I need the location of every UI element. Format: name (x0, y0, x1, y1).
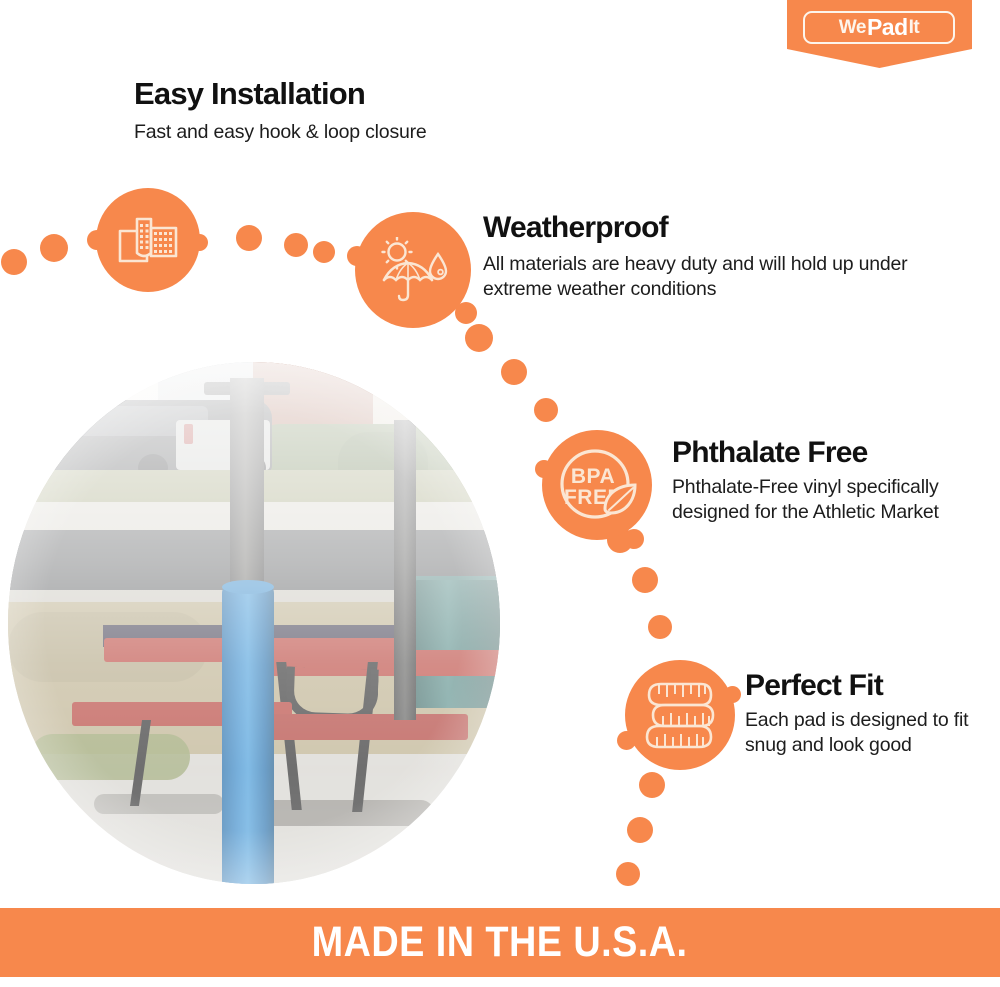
feature-description-phthalate-free: Phthalate-Free vinyl specifically design… (672, 475, 982, 526)
trail-dot (639, 772, 665, 798)
trail-dot (616, 862, 640, 886)
trail-dot (627, 817, 653, 843)
feature-title-phthalate-free: Phthalate Free (672, 437, 982, 469)
bpa-free-leaf-icon: BPA FREE (542, 430, 652, 540)
logo-outline-box: WePadIt (803, 11, 955, 44)
made-in-usa-text: MADE IN THE U.S.A. (312, 918, 688, 967)
sun-umbrella-raindrop-icon (355, 212, 471, 328)
logo-text-pad: Pad (867, 14, 908, 41)
trail-dot (632, 567, 658, 593)
brand-logo[interactable]: WePadIt (787, 0, 972, 68)
bpa-icon-text-line1: BPA (571, 465, 615, 488)
trail-dot (648, 615, 672, 639)
trail-dot (40, 234, 68, 262)
logo-text-it: It (909, 17, 920, 39)
feature-description-perfect-fit: Each pad is designed to fit snug and loo… (745, 708, 990, 759)
feature-title-easy-installation: Easy Installation (134, 78, 564, 111)
feature-phthalate-free: Phthalate Free Phthalate-Free vinyl spec… (672, 437, 982, 526)
photo-vignette-overlay (8, 362, 500, 884)
logo-text-we: We (839, 17, 866, 39)
feature-weatherproof: Weatherproof All materials are heavy dut… (483, 212, 923, 303)
feature-perfect-fit: Perfect Fit Each pad is designed to fit … (745, 670, 990, 759)
trail-dot (534, 398, 558, 422)
made-in-usa-banner: MADE IN THE U.S.A. (0, 908, 1000, 977)
trail-dot (313, 241, 335, 263)
product-photo (8, 362, 500, 884)
feature-title-weatherproof: Weatherproof (483, 212, 923, 244)
trail-dot (236, 225, 262, 251)
feature-description-easy-installation: Fast and easy hook & loop closure (134, 120, 564, 146)
trail-dot (1, 249, 27, 275)
trail-dot (284, 233, 308, 257)
feature-title-perfect-fit: Perfect Fit (745, 670, 990, 702)
feature-description-weatherproof: All materials are heavy duty and will ho… (483, 252, 923, 303)
trail-dot (465, 324, 493, 352)
feature-easy-installation: Easy Installation Fast and easy hook & l… (134, 78, 564, 145)
hook-and-loop-icon (96, 188, 200, 292)
measuring-tape-icon (625, 660, 735, 770)
infographic-root: WePadIt Easy Installation Fast and easy … (0, 0, 1000, 987)
trail-dot (501, 359, 527, 385)
